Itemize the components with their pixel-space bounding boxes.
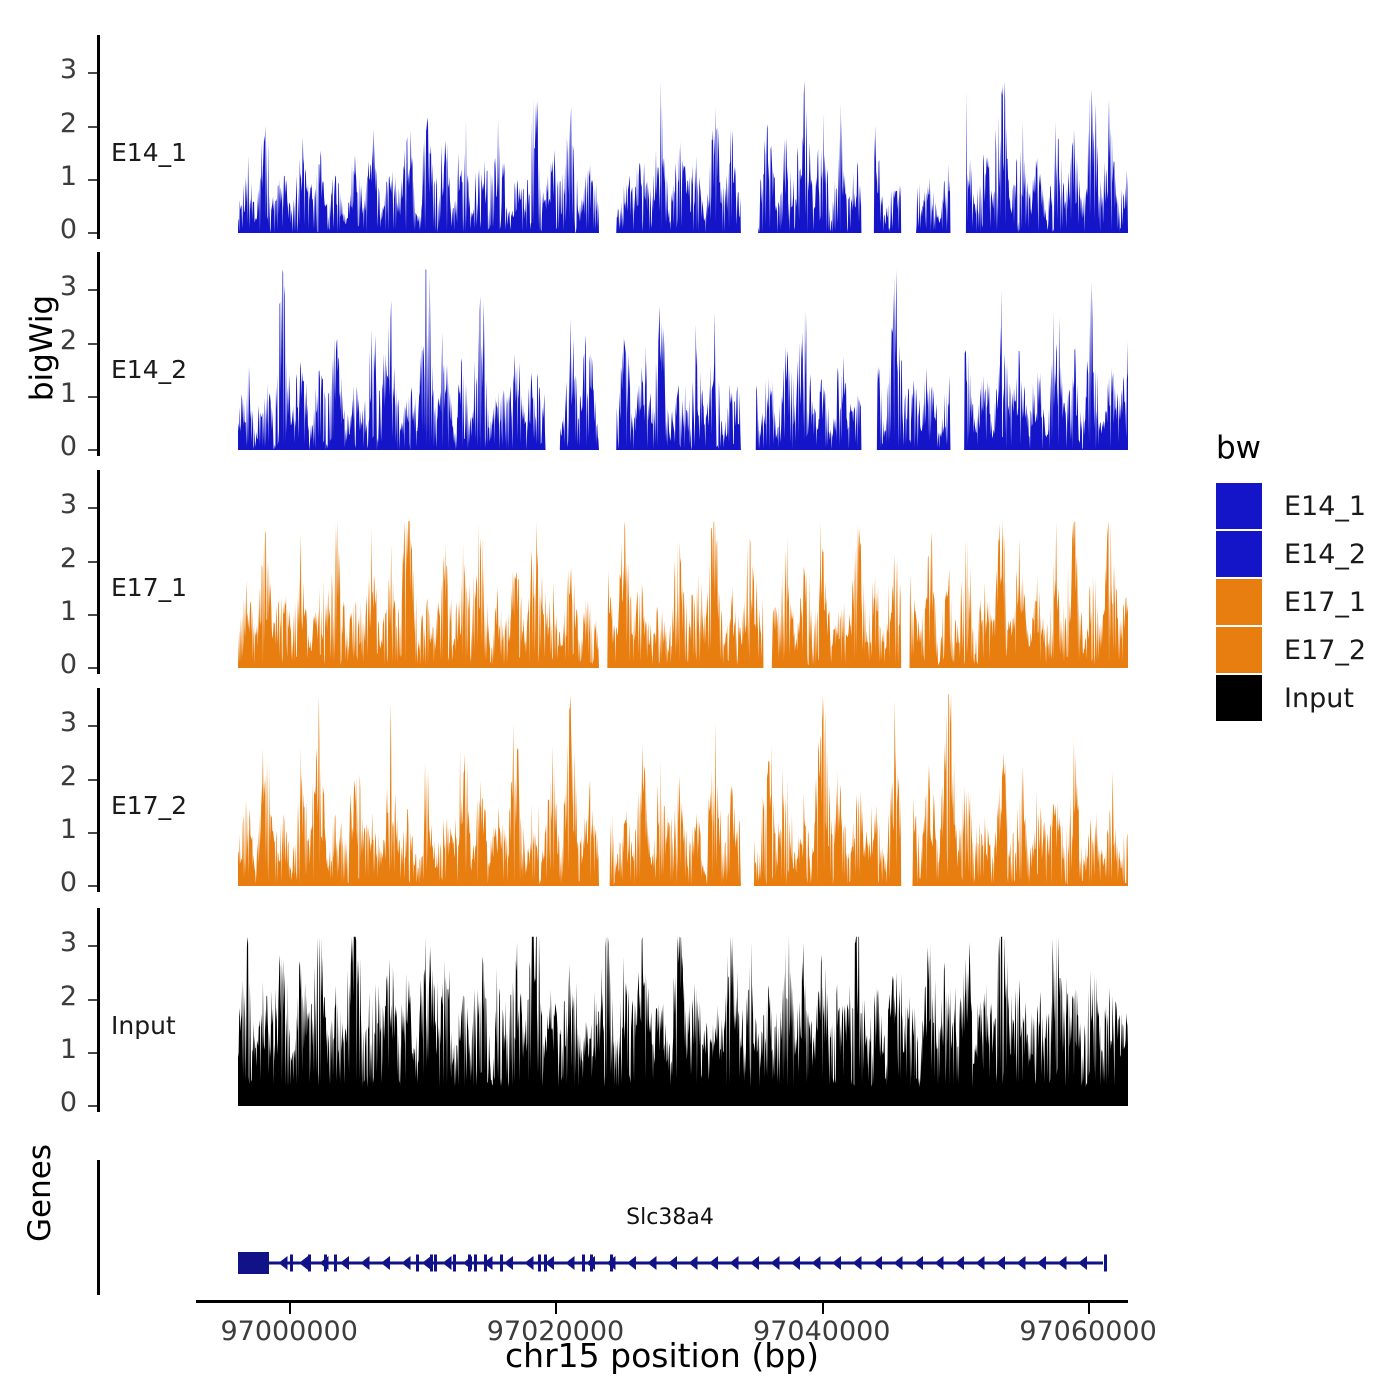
signal-track-e14_1 (238, 35, 1128, 233)
y-axis-line (97, 252, 100, 456)
panel-strip-label-e17_2: E17_2 (111, 791, 187, 820)
y-tick-label: 2 (31, 325, 77, 356)
y-tick (88, 614, 97, 616)
legend-color-swatch (1216, 579, 1262, 625)
panel-e14_1: 0123E14_1 (97, 35, 1134, 247)
y-tick-label: 3 (31, 927, 77, 958)
panel-strip-label-e14_2: E14_2 (111, 355, 187, 384)
legend-item-e17_2[interactable]: E17_2 (1216, 627, 1366, 673)
legend-item-e14_1[interactable]: E14_1 (1216, 483, 1366, 529)
x-tick (555, 1303, 557, 1314)
legend-item-label: E17_2 (1284, 635, 1366, 666)
y-tick-label: 3 (31, 271, 77, 302)
y-tick-label: 0 (31, 214, 77, 245)
y-tick-label: 0 (31, 649, 77, 680)
legend-item-label: E17_1 (1284, 587, 1366, 618)
y-tick-label: 1 (31, 161, 77, 192)
y-tick (88, 396, 97, 398)
legend-color-swatch (1216, 627, 1262, 673)
y-tick (88, 725, 97, 727)
y-tick (88, 667, 97, 669)
panel-e14_2: 0123E14_2 (97, 252, 1134, 464)
genes-axis-line (97, 1160, 100, 1295)
legend-item-label: E14_1 (1284, 491, 1366, 522)
y-tick-label: 2 (31, 761, 77, 792)
gene-name-label: Slc38a4 (560, 1205, 780, 1230)
signal-area (238, 252, 1128, 450)
y-tick (88, 779, 97, 781)
y-tick (88, 507, 97, 509)
y-tick (88, 561, 97, 563)
panel-input: 0123Input (97, 908, 1134, 1120)
x-tick (289, 1303, 291, 1314)
panel-strip-label-e14_1: E14_1 (111, 138, 187, 167)
y-axis-line (97, 908, 100, 1112)
y-tick (88, 72, 97, 74)
y-axis-line (97, 688, 100, 892)
x-tick (822, 1303, 824, 1314)
y-tick-label: 3 (31, 489, 77, 520)
signal-area (238, 688, 1128, 886)
y-tick-label: 0 (31, 431, 77, 462)
x-axis-line (196, 1300, 1128, 1303)
legend-item-label: Input (1284, 683, 1354, 714)
legend-item-input[interactable]: Input (1216, 675, 1354, 721)
legend-item-label: E14_2 (1284, 539, 1366, 570)
panel-e17_1: 0123E17_1 (97, 470, 1134, 682)
y-tick-label: 1 (31, 1034, 77, 1065)
legend-item-e14_2[interactable]: E14_2 (1216, 531, 1366, 577)
y-tick (88, 1052, 97, 1054)
y-tick (88, 343, 97, 345)
x-tick (1088, 1303, 1090, 1314)
signal-area (238, 35, 1128, 233)
panel-e17_2: 0123E17_2 (97, 688, 1134, 900)
y-tick-label: 3 (31, 54, 77, 85)
y-tick-label: 2 (31, 108, 77, 139)
signal-track-input (238, 908, 1128, 1106)
signal-track-e14_2 (238, 252, 1128, 450)
genes-axis-label: Genes (22, 1103, 58, 1283)
signal-track-e17_1 (238, 470, 1128, 668)
y-tick (88, 885, 97, 887)
gene-model (238, 1243, 1107, 1283)
y-tick-label: 3 (31, 707, 77, 738)
y-tick-label: 2 (31, 981, 77, 1012)
y-tick (88, 449, 97, 451)
y-tick (88, 945, 97, 947)
y-tick (88, 232, 97, 234)
y-tick (88, 289, 97, 291)
panel-strip-label-e17_1: E17_1 (111, 573, 187, 602)
signal-track-e17_2 (238, 688, 1128, 886)
panel-strip-label-input: Input (111, 1011, 176, 1040)
x-axis-title: chr15 position (bp) (196, 1336, 1128, 1375)
y-tick (88, 999, 97, 1001)
legend-color-swatch (1216, 483, 1262, 529)
y-tick (88, 179, 97, 181)
y-tick (88, 1105, 97, 1107)
signal-area (238, 470, 1128, 668)
legend-title: bw (1216, 430, 1261, 466)
legend-item-e17_1[interactable]: E17_1 (1216, 579, 1366, 625)
y-tick-label: 0 (31, 867, 77, 898)
y-tick-label: 1 (31, 814, 77, 845)
y-tick (88, 126, 97, 128)
y-tick (88, 832, 97, 834)
legend-color-swatch (1216, 675, 1262, 721)
y-tick-label: 1 (31, 378, 77, 409)
y-axis-line (97, 470, 100, 674)
y-axis-line (97, 35, 100, 239)
y-tick-label: 1 (31, 596, 77, 627)
y-tick-label: 2 (31, 543, 77, 574)
legend-color-swatch (1216, 531, 1262, 577)
signal-area (238, 908, 1128, 1106)
y-tick-label: 0 (31, 1087, 77, 1118)
